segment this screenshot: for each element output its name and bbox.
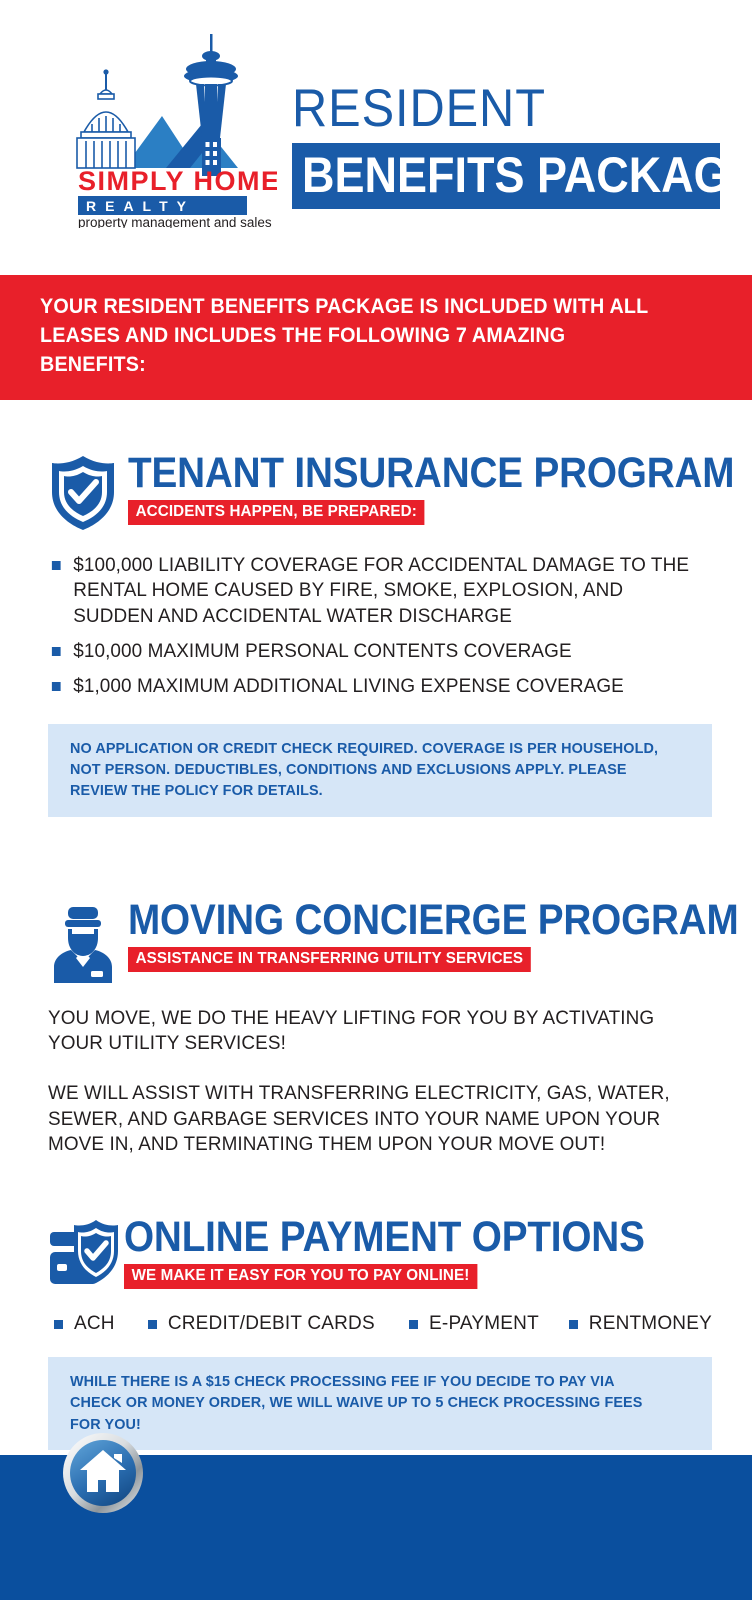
section-tenant-insurance: TENANT INSURANCE PROGRAM ACCIDENTS HAPPE… bbox=[48, 400, 712, 817]
title-line-2: BENEFITS PACKAGE bbox=[302, 150, 669, 200]
concierge-person-icon bbox=[48, 903, 118, 988]
section-subtitle: ASSISTANCE IN TRANSFERRING UTILITY SERVI… bbox=[128, 947, 531, 972]
section-header: TENANT INSURANCE PROGRAM ACCIDENTS HAPPE… bbox=[48, 452, 712, 535]
list-item-text: E-PAYMENT bbox=[429, 1313, 539, 1334]
svg-text:property management and sales: property management and sales bbox=[78, 215, 272, 228]
section-online-payment: ONLINE PAYMENT OPTIONS WE MAKE IT EASY F… bbox=[48, 1158, 712, 1450]
title-line-1: RESIDENT bbox=[292, 82, 686, 135]
insurance-note-text: NO APPLICATION OR CREDIT CHECK REQUIRED.… bbox=[70, 738, 669, 802]
list-item-text: $10,000 MAXIMUM PERSONAL CONTENTS COVERA… bbox=[73, 640, 571, 662]
title-highlight-bar: BENEFITS PACKAGE bbox=[292, 143, 720, 209]
list-item: $10,000 MAXIMUM PERSONAL CONTENTS COVERA… bbox=[48, 639, 692, 664]
payment-note-box: WHILE THERE IS A $15 CHECK PROCESSING FE… bbox=[48, 1357, 712, 1450]
intro-banner-text: YOUR RESIDENT BENEFITS PACKAGE IS INCLUD… bbox=[40, 293, 675, 380]
section-moving-concierge: MOVING CONCIERGE PROGRAM ASSISTANCE IN T… bbox=[48, 817, 712, 1159]
section-header: MOVING CONCIERGE PROGRAM ASSISTANCE IN T… bbox=[48, 899, 712, 984]
list-item: CREDIT/DEBIT CARDS bbox=[146, 1313, 375, 1335]
bullet-square-icon bbox=[148, 1320, 157, 1329]
page-header: SIMPLY HOME REALTY property management a… bbox=[0, 0, 752, 275]
benefits-content: TENANT INSURANCE PROGRAM ACCIDENTS HAPPE… bbox=[0, 400, 752, 1450]
list-item: E-PAYMENT bbox=[407, 1313, 539, 1335]
page-title: RESIDENT BENEFITS PACKAGE bbox=[292, 82, 720, 209]
svg-text:REALTY: REALTY bbox=[86, 198, 195, 214]
list-item-text: ACH bbox=[74, 1313, 115, 1334]
section-title: MOVING CONCIERGE PROGRAM bbox=[128, 899, 654, 942]
payment-options-list: ACH CREDIT/DEBIT CARDS E-PAYMENT RENTMON… bbox=[48, 1313, 712, 1335]
insurance-note-box: NO APPLICATION OR CREDIT CHECK REQUIRED.… bbox=[48, 724, 712, 817]
wallet-shield-icon bbox=[48, 1218, 126, 1293]
svg-text:SIMPLY HOME: SIMPLY HOME bbox=[78, 166, 277, 196]
bullet-square-icon bbox=[54, 1320, 63, 1329]
bullet-square-icon bbox=[409, 1320, 418, 1329]
list-item-text: $100,000 LIABILITY COVERAGE FOR ACCIDENT… bbox=[73, 554, 689, 627]
shield-check-icon bbox=[48, 454, 118, 537]
section-subtitle: WE MAKE IT EASY FOR YOU TO PAY ONLINE! bbox=[124, 1264, 477, 1289]
bullet-square-icon bbox=[52, 561, 61, 570]
section-subtitle: ACCIDENTS HAPPEN, BE PREPARED: bbox=[128, 500, 424, 525]
section-title: ONLINE PAYMENT OPTIONS bbox=[124, 1216, 653, 1259]
insurance-bullet-list: $100,000 LIABILITY COVERAGE FOR ACCIDENT… bbox=[48, 553, 712, 700]
intro-banner: YOUR RESIDENT BENEFITS PACKAGE IS INCLUD… bbox=[0, 275, 752, 400]
list-item: RENTMONEY bbox=[567, 1313, 712, 1335]
section-header: ONLINE PAYMENT OPTIONS WE MAKE IT EASY F… bbox=[48, 1216, 712, 1291]
company-logo: SIMPLY HOME REALTY property management a… bbox=[62, 28, 277, 228]
bullet-square-icon bbox=[52, 647, 61, 656]
list-item: $1,000 MAXIMUM ADDITIONAL LIVING EXPENSE… bbox=[48, 674, 692, 699]
list-item-text: RENTMONEY bbox=[589, 1313, 712, 1334]
section-title: TENANT INSURANCE PROGRAM bbox=[128, 452, 654, 495]
house-badge-icon bbox=[62, 1432, 144, 1514]
list-item-text: $1,000 MAXIMUM ADDITIONAL LIVING EXPENSE… bbox=[73, 675, 624, 697]
list-item: $100,000 LIABILITY COVERAGE FOR ACCIDENT… bbox=[48, 553, 692, 629]
concierge-paragraph-1: YOU MOVE, WE DO THE HEAVY LIFTING FOR YO… bbox=[48, 1006, 692, 1057]
concierge-paragraph-2: WE WILL ASSIST WITH TRANSFERRING ELECTRI… bbox=[48, 1081, 692, 1158]
list-item-text: CREDIT/DEBIT CARDS bbox=[168, 1313, 375, 1334]
bullet-square-icon bbox=[569, 1320, 578, 1329]
list-item: ACH bbox=[52, 1313, 115, 1335]
payment-note-text: WHILE THERE IS A $15 CHECK PROCESSING FE… bbox=[70, 1371, 669, 1435]
bullet-square-icon bbox=[52, 682, 61, 691]
